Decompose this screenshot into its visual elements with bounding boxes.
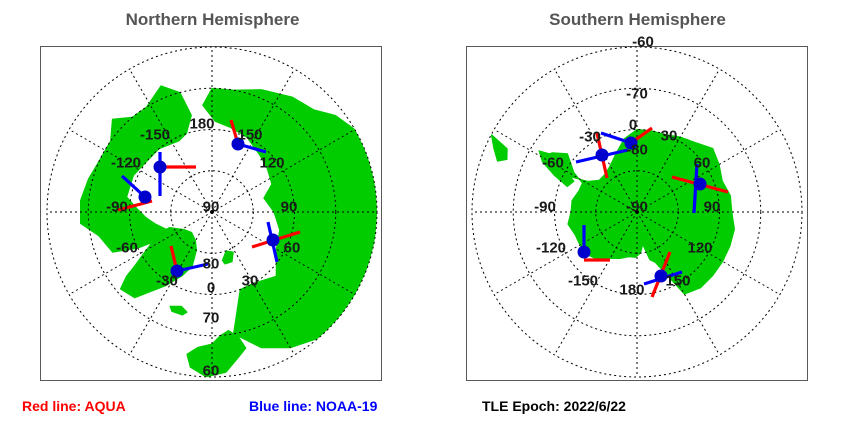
graticule-label: 30	[661, 128, 678, 145]
graticule-label: -70	[626, 86, 648, 103]
graticule-label: 60	[694, 155, 711, 172]
graticule-label: -30	[579, 129, 601, 146]
satellite-groundtrack-figure: Northern Hemisphere -150180150-120120-90…	[0, 0, 850, 425]
graticule-label: -90	[626, 199, 648, 216]
graticule-label: -90	[534, 199, 556, 216]
graticule-label: -120	[536, 240, 566, 257]
graticule-label: 180	[619, 282, 644, 299]
graticule-label: 0	[629, 117, 637, 134]
graticule-label: 150	[665, 273, 690, 290]
legend-red-line-aqua: Red line: AQUA	[22, 398, 126, 414]
graticule-label: -150	[568, 273, 598, 290]
southern-graticule-labels: -60-70-30030-80-6060-90-9090-120120-1501…	[0, 0, 850, 390]
graticule-label: -60	[632, 34, 654, 51]
graticule-label: 120	[687, 240, 712, 257]
legend-blue-line-noaa19: Blue line: NOAA-19	[249, 398, 377, 414]
legend-tle-epoch: TLE Epoch: 2022/6/22	[482, 398, 626, 414]
graticule-label: 90	[704, 199, 721, 216]
graticule-label: -60	[542, 155, 564, 172]
graticule-label: -80	[626, 142, 648, 159]
